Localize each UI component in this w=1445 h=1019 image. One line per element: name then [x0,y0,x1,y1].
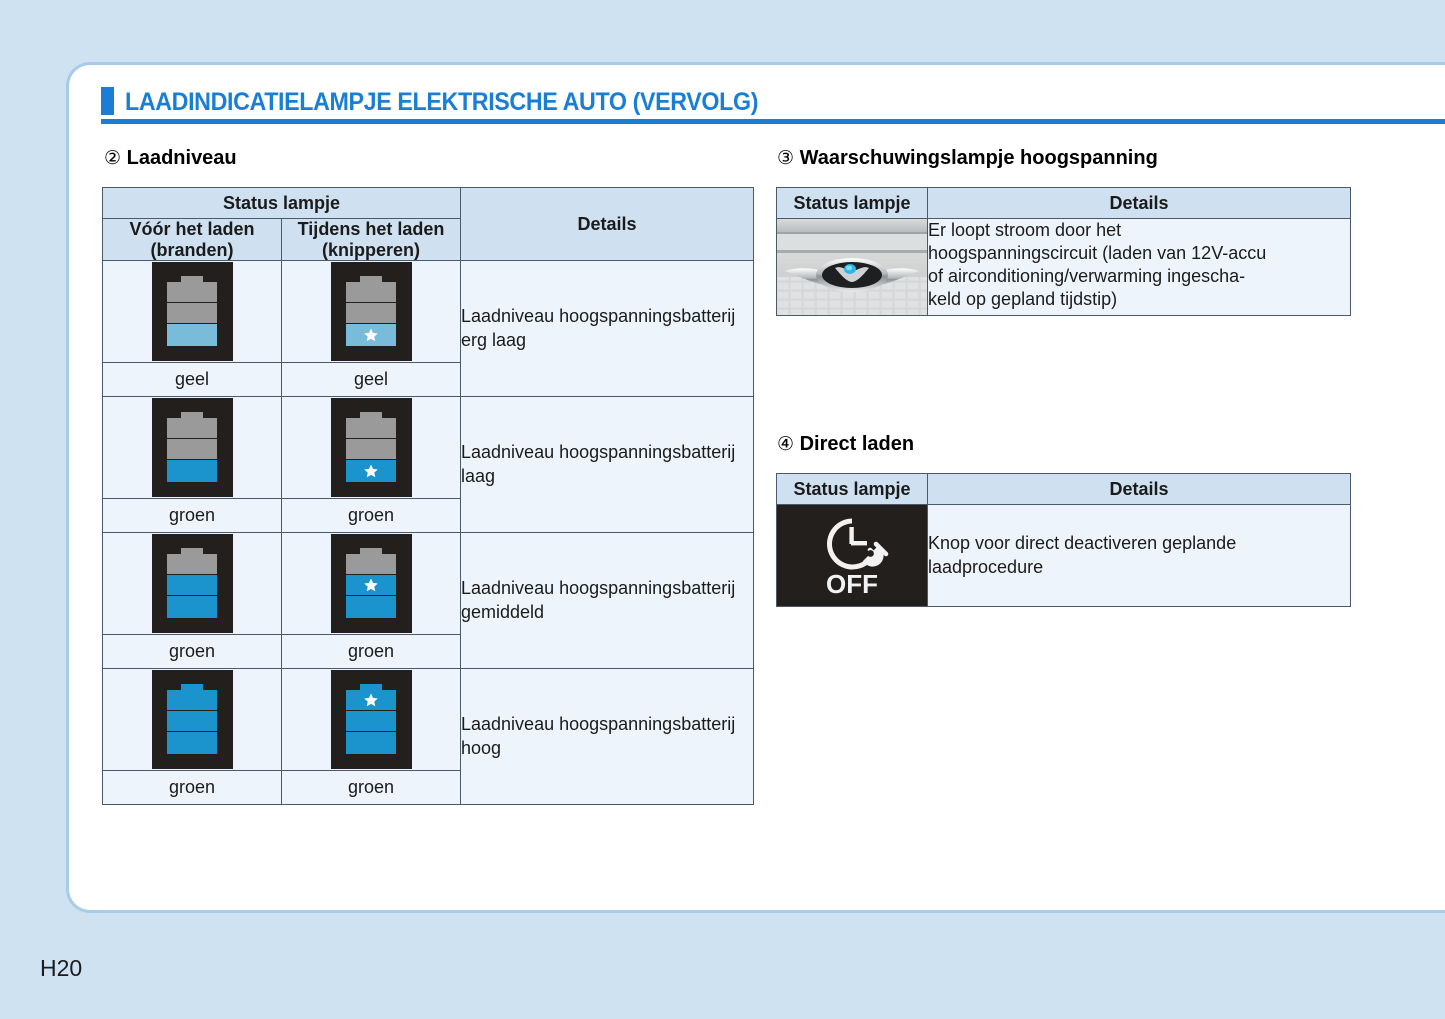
table-row: Laadniveau hoogspanningsbatterij gemidde… [103,533,754,635]
clock-plug-off-icon-label: OFF [826,569,878,599]
section-label-3: Waarschuwingslampje hoogspanning [800,147,1158,169]
cell-before-charging-color: geel [103,363,282,397]
battery-segment [346,303,396,324]
battery-segment [346,282,396,303]
battery-segment [346,575,396,596]
page-title-text: LAADINDICATIELAMPJE ELEKTRISCHE AUTO (VE… [125,90,758,115]
star-icon [364,577,379,592]
battery-segment [167,732,217,754]
battery-status-swatch [331,398,412,497]
battery-segment [346,460,396,482]
battery-icon [167,412,217,484]
cell-before-charging-color: groen [103,771,282,805]
cell-during-charging-icon [282,669,461,771]
table-hv-warning: Status lampje Details [776,187,1351,316]
table-row: Laadniveau hoogspanningsbatterij erg laa… [103,261,754,363]
hv-details-line-3: of airconditioning/verwarming ingescha- [928,265,1350,288]
hv-details-line-4: keld op gepland tijdstip) [928,288,1350,311]
table-row: Laadniveau hoogspanningsbatterij hoog [103,669,754,771]
hv-header-status-lamp: Status lampje [777,188,928,219]
battery-icon [346,548,396,620]
battery-segment [167,324,217,346]
cell-during-charging-icon [282,533,461,635]
battery-segment [167,575,217,596]
battery-icon [346,412,396,484]
clock-plug-off-icon: OFF [777,505,928,607]
battery-status-swatch [152,534,233,633]
cell-during-charging-icon [282,261,461,363]
table-row: Laadniveau hoogspanningsbatterij laag [103,397,754,499]
table-row: OFF Knop voor direct deactiveren gepland… [777,505,1351,607]
header-status-lamp: Status lampje [103,188,461,219]
table-direct-charge: Status lampje Details [776,473,1351,607]
battery-status-swatch [331,670,412,769]
cell-before-charging-icon [103,397,282,499]
cell-during-charging-color: groen [282,499,461,533]
section-label-4: Direct laden [800,433,914,455]
cell-before-charging-color: groen [103,635,282,669]
header-during-charging-line2: (knipperen) [282,240,460,261]
header-before-charging-line1: Vóór het laden [103,219,281,240]
section-number-3: ③ [777,148,794,169]
cell-during-charging-icon [282,397,461,499]
battery-status-swatch [152,262,233,361]
page-number: H20 [40,955,82,982]
battery-segment [167,439,217,460]
title-accent-bar [101,87,114,115]
section-heading-hv-warning: ③ Waarschuwingslampje hoogspanning [777,147,1158,170]
battery-segment [167,596,217,618]
battery-segment [167,711,217,732]
dl-header-details: Details [928,474,1351,505]
header-before-charging: Vóór het laden (branden) [103,219,282,261]
battery-segment [346,596,396,618]
title-underline [101,119,1445,124]
cell-details: Laadniveau hoogspanningsbatterij gemidde… [461,533,754,669]
battery-status-swatch [152,398,233,497]
star-icon [364,463,379,478]
page-title: LAADINDICATIELAMPJE ELEKTRISCHE AUTO (VE… [101,87,1441,115]
header-before-charging-line2: (branden) [103,240,281,261]
battery-segment [346,690,396,711]
cell-before-charging-icon [103,669,282,771]
section-heading-laadniveau: ② Laadniveau [104,147,237,170]
battery-icon [167,276,217,348]
battery-segment [346,324,396,346]
cell-before-charging-icon [103,533,282,635]
cell-before-charging-icon [103,261,282,363]
cell-details: Laadniveau hoogspanningsbatterij laag [461,397,754,533]
star-icon [364,327,379,342]
hv-details-text: Er loopt stroom door het hoogspanningsci… [928,219,1351,316]
hv-details-line-2: hoogspanningscircuit (laden van 12V-accu [928,242,1350,265]
hv-details-line-1: Er loopt stroom door het [928,219,1350,242]
battery-segment [167,460,217,482]
section-heading-direct-charge: ④ Direct laden [777,433,914,456]
battery-segment [346,554,396,575]
manual-page-sheet: LAADINDICATIELAMPJE ELEKTRISCHE AUTO (VE… [66,62,1445,913]
battery-icon [167,548,217,620]
battery-segment [167,303,217,324]
header-details: Details [461,188,754,261]
battery-icon [346,684,396,756]
hyundai-badge-indicator-photo [777,219,928,316]
table-row: Er loopt stroom door het hoogspanningsci… [777,219,1351,316]
cell-during-charging-color: geel [282,363,461,397]
battery-segment [167,554,217,575]
battery-status-swatch [152,670,233,769]
dl-header-status-lamp: Status lampje [777,474,928,505]
battery-segment [167,282,217,303]
cell-before-charging-color: groen [103,499,282,533]
hv-header-details: Details [928,188,1351,219]
cell-during-charging-color: groen [282,771,461,805]
section-label-2: Laadniveau [127,147,237,169]
dl-details-text: Knop voor direct deactiveren geplande la… [928,505,1351,607]
battery-segment [167,690,217,711]
battery-status-swatch [331,534,412,633]
battery-segment [346,732,396,754]
header-during-charging-line1: Tijdens het laden [282,219,460,240]
section-number-4: ④ [777,434,794,455]
header-during-charging: Tijdens het laden (knipperen) [282,219,461,261]
cell-details: Laadniveau hoogspanningsbatterij hoog [461,669,754,805]
battery-icon [346,276,396,348]
section-number-2: ② [104,148,121,169]
battery-segment [346,418,396,439]
battery-status-swatch [331,262,412,361]
star-icon [364,692,379,707]
table-charge-level: Status lampje Details Vóór het laden (br… [102,187,754,805]
battery-segment [346,711,396,732]
battery-icon [167,684,217,756]
cell-during-charging-color: groen [282,635,461,669]
battery-segment [346,439,396,460]
battery-segment [167,418,217,439]
cell-details: Laadniveau hoogspanningsbatterij erg laa… [461,261,754,397]
